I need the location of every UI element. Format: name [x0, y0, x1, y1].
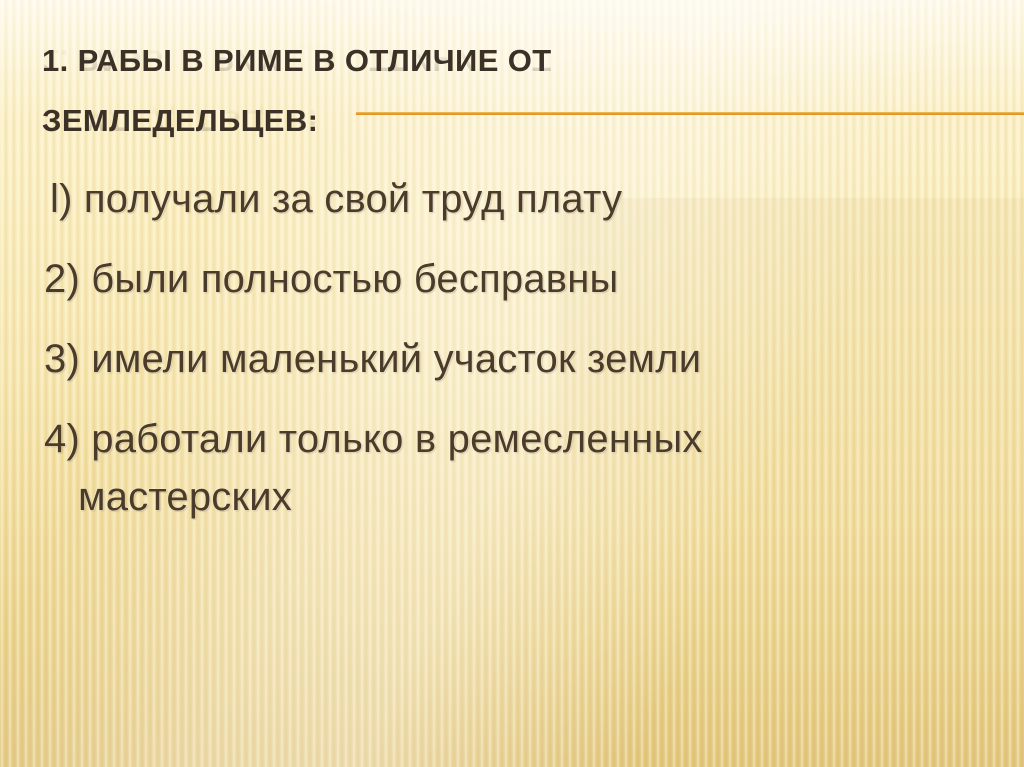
- list-item-option-4-line-1: 4) работали только в ремесленных: [44, 417, 703, 461]
- list-item-option-4-line-2: мастерских: [44, 474, 984, 520]
- list-item-option-2: 2) были полностью бесправны: [44, 256, 984, 302]
- presentation-slide: 1. Рабы в Риме в отличие от 1. Рабы в Ри…: [0, 0, 1024, 767]
- title-line: 1. Рабы в Риме в отличие от 1. Рабы в Ри…: [42, 44, 742, 86]
- page-title: 1. Рабы в Риме в отличие от 1. Рабы в Ри…: [42, 44, 742, 146]
- list-item-option-4: 4) работали только в ремесленных мастерс…: [44, 416, 984, 520]
- answer-options-list: l) получали за свой труд плату 2) были п…: [44, 176, 984, 520]
- title-line-text: земледельцев:: [42, 104, 318, 138]
- list-item-option-3: 3) имели маленький участок земли: [44, 336, 984, 382]
- title-line-text: 1. Рабы в Риме в отличие от: [42, 44, 552, 78]
- title-line: земледельцев: земледельцев:: [42, 104, 742, 146]
- list-item-option-1: l) получали за свой труд плату: [44, 176, 984, 222]
